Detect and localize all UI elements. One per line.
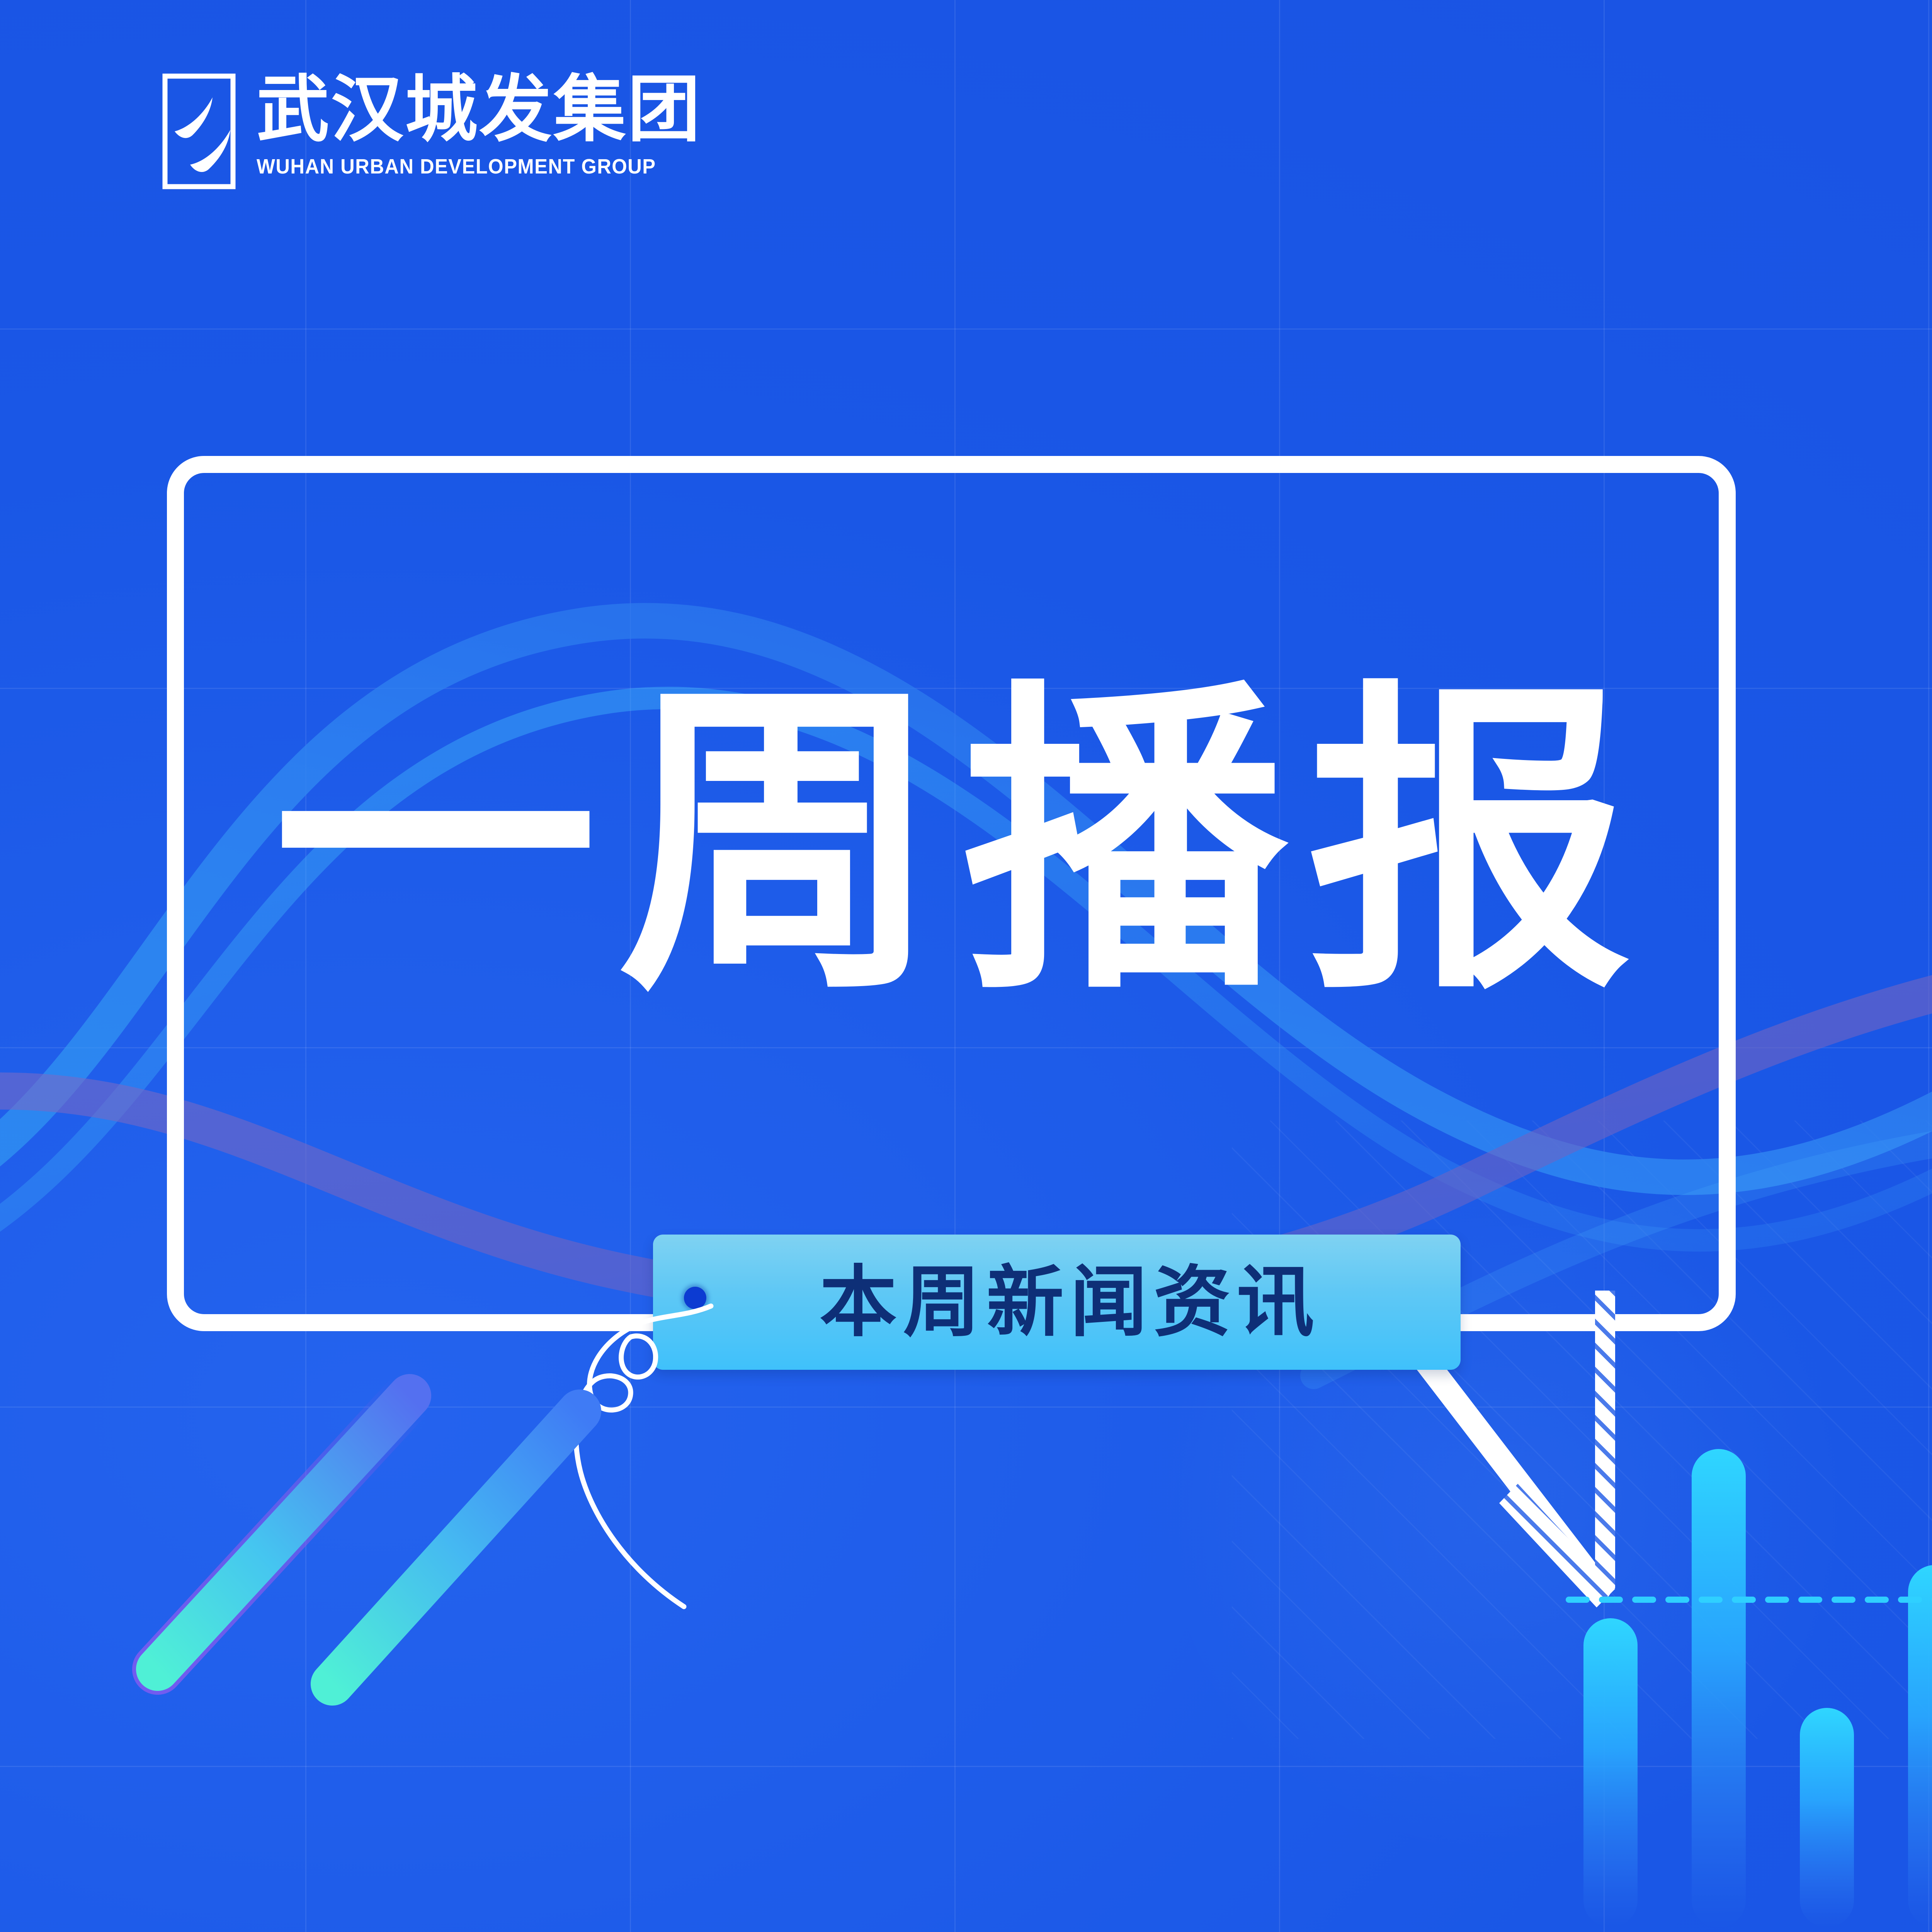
brand-name-en: WUHAN URBAN DEVELOPMENT GROUP — [257, 156, 675, 177]
diagonal-stripe-pair — [116, 1360, 603, 1731]
bar-1 — [1583, 1618, 1638, 1927]
subtitle-badge-label: 本周新闻资讯 — [820, 1264, 1320, 1341]
page-title: 一周播报 — [247, 680, 1677, 1005]
dashed-baseline — [1565, 1588, 1932, 1611]
poster-canvas: 武汉城发集团 WUHAN URBAN DEVELOPMENT GROUP 一周播… — [0, 0, 1932, 1932]
brand-name-cn: 武汉城发集团 — [257, 73, 702, 146]
brand-logo: 武汉城发集团 WUHAN URBAN DEVELOPMENT GROUP — [162, 73, 702, 189]
bar-4 — [1908, 1565, 1932, 1927]
bar-chart — [1569, 1437, 1932, 1928]
bar-series — [1583, 1449, 1932, 1927]
logo-mark-icon — [162, 73, 236, 189]
subtitle-badge: 本周新闻资讯 — [653, 1235, 1461, 1370]
bar-2 — [1692, 1449, 1746, 1927]
bar-3 — [1800, 1708, 1854, 1927]
